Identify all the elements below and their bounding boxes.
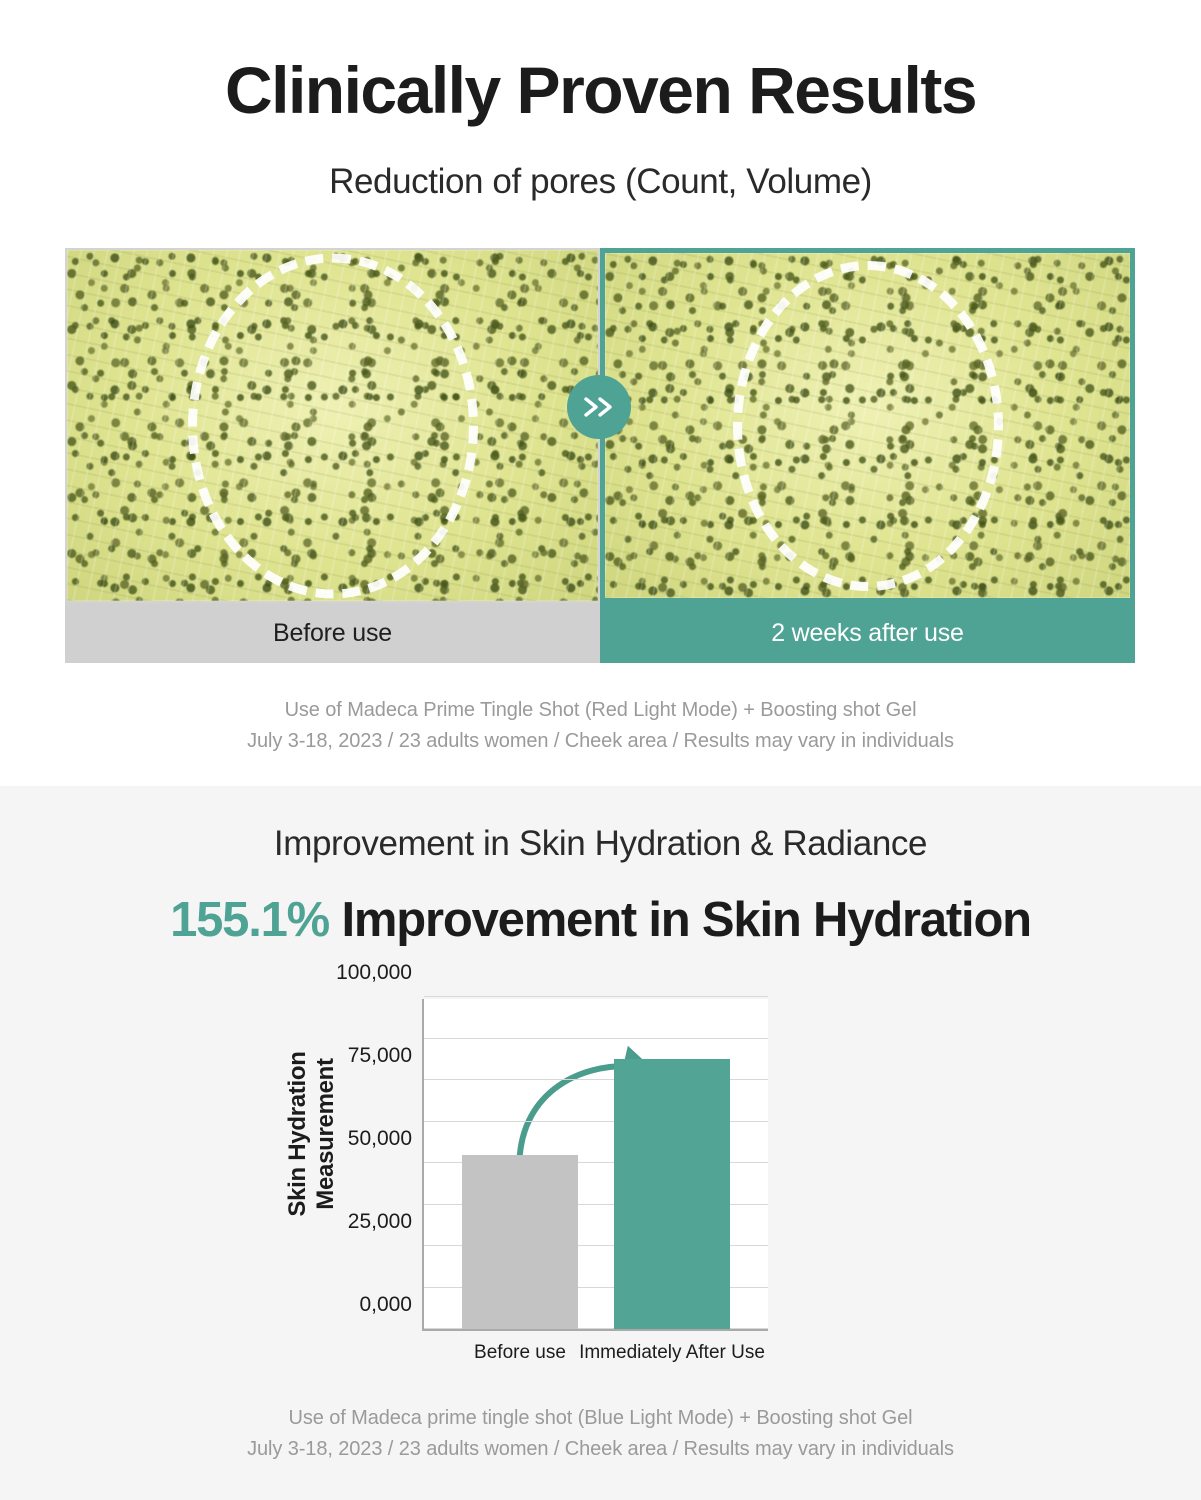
after-skin-photo — [600, 248, 1135, 603]
chart-bar-before — [462, 1155, 578, 1329]
pores-note-line-2: July 3-18, 2023 / 23 adults women / Chee… — [0, 726, 1201, 757]
pores-section: Clinically Proven Results Reduction of p… — [0, 0, 1201, 786]
chart-y-tick-label: 0,000 — [359, 1293, 412, 1317]
pores-study-note: Use of Madeca Prime Tingle Shot (Red Lig… — [0, 695, 1201, 757]
hydration-note-line-1: Use of Madeca prime tingle shot (Blue Li… — [0, 1403, 1201, 1434]
hydration-bar-chart: Skin Hydration Measurement 100,00075,000… — [250, 986, 810, 1396]
dashed-highlight-circle — [188, 253, 478, 598]
before-pane: Before use — [65, 248, 600, 663]
double-chevron-right-icon — [567, 375, 631, 439]
hydration-note-line-2: July 3-18, 2023 / 23 adults women / Chee… — [0, 1434, 1201, 1465]
chart-y-axis-title: Skin Hydration Measurement — [284, 984, 340, 1284]
hydration-headline-rest: Improvement in Skin Hydration — [329, 893, 1031, 947]
hydration-headline: 155.1% Improvement in Skin Hydration — [0, 892, 1201, 948]
chart-gridline — [424, 1038, 768, 1039]
hydration-percent-value: 155.1% — [170, 893, 329, 947]
chart-y-tick-label: 100,000 — [336, 961, 412, 985]
chart-bar-after — [614, 1059, 730, 1329]
after-label: 2 weeks after use — [771, 619, 964, 648]
chart-y-tick-label: 50,000 — [348, 1127, 412, 1151]
after-caption-bar: 2 weeks after use — [600, 603, 1135, 663]
hydration-study-note: Use of Madeca prime tingle shot (Blue Li… — [0, 1403, 1201, 1465]
after-pane: 2 weeks after use — [600, 248, 1135, 663]
hydration-title: Improvement in Skin Hydration & Radiance — [0, 824, 1201, 864]
chart-x-tick-label: Before use — [474, 1342, 566, 1364]
before-skin-photo — [65, 248, 600, 603]
page-subtitle: Reduction of pores (Count, Volume) — [0, 162, 1201, 202]
chart-gridline — [424, 996, 768, 997]
before-caption-bar: Before use — [65, 603, 600, 663]
infographic-page: Clinically Proven Results Reduction of p… — [0, 0, 1201, 1500]
chart-x-tick-label: Immediately After Use — [579, 1342, 765, 1364]
hydration-section: Improvement in Skin Hydration & Radiance… — [0, 786, 1201, 1500]
chart-plot-area: 100,00075,00050,00025,0000,000Before use… — [422, 999, 768, 1331]
page-title: Clinically Proven Results — [0, 55, 1201, 126]
pores-note-line-1: Use of Madeca Prime Tingle Shot (Red Lig… — [0, 695, 1201, 726]
before-after-comparison: Before use 2 weeks after use — [65, 248, 1135, 663]
dashed-highlight-circle — [733, 261, 1003, 591]
before-label: Before use — [273, 619, 392, 648]
chart-y-tick-label: 25,000 — [348, 1210, 412, 1234]
chart-y-tick-label: 75,000 — [348, 1044, 412, 1068]
